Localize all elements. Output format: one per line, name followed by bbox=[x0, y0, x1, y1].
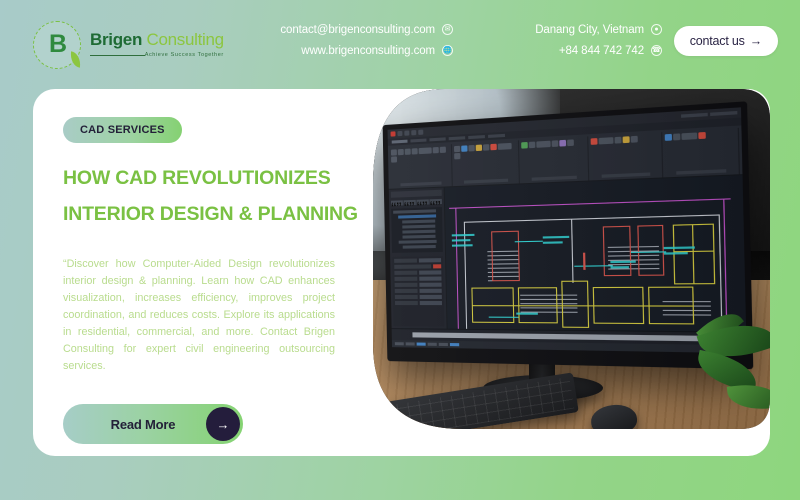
erase-tool-icon bbox=[491, 144, 497, 151]
property-value bbox=[418, 258, 441, 262]
phone-icon: ☎ bbox=[651, 45, 662, 56]
red-detail-block bbox=[637, 225, 664, 276]
ribbon-group-draw bbox=[390, 144, 453, 189]
header-website-text: www.brigenconsulting.com bbox=[301, 45, 435, 57]
cabinet-block bbox=[561, 281, 589, 328]
tree-item bbox=[402, 225, 435, 229]
purge-tool-icon bbox=[698, 132, 705, 139]
quick-save-icon bbox=[397, 131, 402, 136]
headline-line-1: HOW CAD REVOLUTIONIZES bbox=[63, 160, 363, 196]
ribbon-group-utilities-label bbox=[676, 169, 727, 175]
layer-dropdown-icon bbox=[599, 137, 614, 144]
layer-lock-icon bbox=[631, 136, 638, 143]
status-osnap-toggle[interactable] bbox=[439, 343, 448, 346]
panel-tool-1-icon bbox=[391, 200, 403, 205]
tree-item bbox=[403, 235, 436, 239]
header-email-text: contact@brigenconsulting.com bbox=[280, 24, 435, 36]
rectangle-tool-icon bbox=[419, 147, 432, 154]
annotation-text bbox=[543, 241, 563, 244]
header-address-row: Danang City, Vietnam ● bbox=[535, 19, 662, 40]
header-email-row[interactable]: contact@brigenconsulting.com ✉ bbox=[280, 19, 453, 40]
panel-tool-2-icon bbox=[404, 200, 416, 205]
red-detail-block bbox=[491, 231, 520, 282]
ribbon-group-modify-icons bbox=[454, 143, 517, 180]
ribbon-tab-view bbox=[449, 136, 465, 140]
property-name bbox=[394, 277, 416, 281]
leader-line bbox=[515, 241, 543, 243]
panel-header bbox=[391, 190, 442, 198]
header-location-group: Danang City, Vietnam ● +84 844 742 742 ☎ bbox=[535, 19, 662, 61]
logo-name: Brigen Consulting bbox=[90, 31, 224, 50]
property-row bbox=[395, 289, 442, 293]
cad-left-panel bbox=[389, 188, 448, 329]
array-tool-icon bbox=[498, 143, 512, 150]
dimension-tool-icon bbox=[529, 142, 536, 149]
desk-scene bbox=[333, 89, 770, 456]
quick-select-icon bbox=[673, 133, 680, 140]
arrow-right-icon: → bbox=[206, 407, 240, 441]
move-tool-icon bbox=[454, 146, 460, 152]
ribbon-tab-output bbox=[488, 134, 505, 138]
drawing-tree-list bbox=[391, 207, 443, 253]
ribbon-group-annotation-icons bbox=[521, 139, 587, 177]
hero-image bbox=[333, 89, 770, 456]
property-color-swatch bbox=[433, 264, 441, 268]
selection-cursor bbox=[583, 253, 586, 270]
property-row bbox=[395, 301, 442, 305]
property-value bbox=[419, 295, 442, 299]
logo-monogram: B bbox=[49, 32, 65, 57]
page-header: B Brigen Consulting Achieve Success Toge… bbox=[0, 0, 800, 89]
annotation-text bbox=[610, 266, 628, 268]
quick-redo-icon bbox=[411, 130, 416, 135]
partition-line bbox=[571, 219, 574, 283]
tree-item bbox=[403, 245, 436, 249]
ribbon-group-annotation bbox=[520, 136, 590, 183]
property-name bbox=[395, 289, 417, 293]
hero-content: CAD SERVICES HOW CAD REVOLUTIONIZES INTE… bbox=[63, 117, 363, 444]
property-row bbox=[394, 270, 441, 275]
property-name bbox=[394, 271, 416, 275]
annotation-text bbox=[610, 261, 635, 264]
line-tool-icon bbox=[391, 149, 397, 155]
tree-item bbox=[399, 240, 437, 244]
status-grid-toggle[interactable] bbox=[395, 342, 404, 345]
property-name bbox=[394, 259, 416, 263]
ribbon-tab-insert bbox=[410, 139, 426, 143]
quick-print-icon bbox=[418, 130, 423, 135]
text-tool-icon bbox=[521, 142, 528, 149]
ribbon-group-draw-label bbox=[400, 182, 442, 187]
circle-tool-icon bbox=[405, 149, 411, 155]
status-polar-toggle[interactable] bbox=[428, 343, 437, 346]
hero-image-clip bbox=[333, 89, 770, 456]
property-value bbox=[419, 289, 442, 293]
header-phone-row[interactable]: +84 844 742 742 ☎ bbox=[535, 40, 662, 61]
ribbon-tab-home bbox=[392, 140, 408, 144]
dimension-line-left bbox=[455, 208, 459, 332]
leader-line bbox=[489, 317, 519, 318]
measure-tool-icon bbox=[664, 134, 671, 141]
properties-palette-icon bbox=[681, 132, 697, 140]
titlebar-controls bbox=[710, 111, 737, 116]
property-row bbox=[394, 264, 441, 269]
annotation-text bbox=[452, 234, 475, 237]
property-row bbox=[394, 277, 441, 281]
attribute-tool-icon bbox=[567, 139, 574, 146]
ribbon-group-layers bbox=[590, 132, 663, 180]
ribbon-tab-annotate bbox=[429, 137, 445, 141]
property-row bbox=[395, 295, 442, 299]
header-phone-text: +84 844 742 742 bbox=[559, 45, 644, 57]
app-logo-icon bbox=[391, 131, 396, 136]
ribbon-group-layers-label bbox=[602, 172, 650, 177]
annotation-text bbox=[664, 252, 688, 255]
layer-freeze-icon bbox=[623, 136, 630, 143]
contact-us-label: contact us bbox=[690, 34, 745, 48]
leader-tool-icon bbox=[536, 141, 550, 148]
category-badge: CAD SERVICES bbox=[63, 117, 182, 143]
header-contact-group: contact@brigenconsulting.com ✉ www.brige… bbox=[280, 19, 453, 61]
quick-undo-icon bbox=[404, 130, 409, 135]
copy-tool-icon bbox=[462, 145, 468, 152]
ribbon-group-modify bbox=[453, 140, 519, 186]
command-prompt-icon bbox=[395, 332, 411, 337]
tree-item bbox=[402, 230, 435, 234]
house-plant bbox=[680, 300, 770, 430]
ribbon-group-draw-icons bbox=[391, 146, 451, 182]
contact-us-button[interactable]: contact us → bbox=[674, 26, 778, 56]
envelope-icon: ✉ bbox=[442, 24, 453, 35]
property-name bbox=[394, 264, 431, 269]
leaf-icon bbox=[69, 51, 82, 67]
read-more-button[interactable]: Read More → bbox=[63, 404, 243, 444]
status-model-space-toggle[interactable] bbox=[450, 343, 459, 346]
block-tool-icon bbox=[559, 140, 566, 147]
status-ortho-toggle[interactable] bbox=[417, 343, 426, 346]
header-website-row[interactable]: www.brigenconsulting.com 🌐 bbox=[280, 40, 453, 61]
logo-name-secondary: Consulting bbox=[146, 30, 223, 49]
logo-mark-icon: B bbox=[33, 21, 81, 69]
property-row bbox=[394, 258, 441, 263]
property-name bbox=[395, 295, 417, 299]
property-value bbox=[419, 301, 442, 305]
headline-line-2: INTERIOR DESIGN & PLANNING bbox=[63, 196, 363, 232]
property-row bbox=[395, 283, 442, 287]
wall-line bbox=[464, 222, 467, 331]
ellipse-tool-icon bbox=[391, 156, 397, 162]
properties-panel bbox=[392, 256, 444, 327]
property-value bbox=[419, 277, 442, 281]
ribbon-group-utilities-icons bbox=[664, 130, 737, 170]
status-snap-toggle[interactable] bbox=[406, 342, 415, 345]
trim-tool-icon bbox=[483, 144, 489, 151]
brand-logo[interactable]: B Brigen Consulting Achieve Success Toge… bbox=[33, 21, 224, 69]
panel-toolbar bbox=[391, 199, 442, 206]
fillet-tool-icon bbox=[455, 153, 461, 159]
table-tool-icon bbox=[551, 140, 558, 147]
ribbon-tab-manage bbox=[468, 135, 485, 139]
arrow-right-icon: → bbox=[750, 34, 762, 48]
property-name bbox=[395, 283, 417, 287]
panel-tool-4-icon bbox=[430, 199, 442, 205]
hero-card: CAD SERVICES HOW CAD REVOLUTIONIZES INTE… bbox=[33, 89, 770, 456]
arc-tool-icon bbox=[412, 148, 418, 154]
page-title: HOW CAD REVOLUTIONIZES INTERIOR DESIGN &… bbox=[63, 160, 363, 232]
spline-tool-icon bbox=[440, 147, 446, 153]
rotate-tool-icon bbox=[469, 145, 475, 152]
titlebar-filename bbox=[681, 113, 708, 118]
tree-item bbox=[402, 220, 435, 224]
plant-leaf bbox=[727, 381, 770, 412]
map-pin-icon: ● bbox=[651, 24, 662, 35]
annotation-text bbox=[452, 239, 471, 241]
polyline-tool-icon bbox=[398, 149, 404, 155]
dimension-line-top bbox=[449, 198, 730, 209]
panel-tool-3-icon bbox=[417, 199, 429, 205]
logo-wordmark: Brigen Consulting Achieve Success Togeth… bbox=[90, 31, 224, 58]
header-address-text: Danang City, Vietnam bbox=[535, 24, 644, 36]
ribbon-group-modify-label bbox=[464, 179, 508, 184]
property-name bbox=[395, 301, 417, 305]
layer-properties-icon bbox=[591, 138, 598, 145]
property-value bbox=[419, 270, 442, 274]
annotation-text bbox=[516, 313, 538, 315]
hatch-tool-icon bbox=[433, 147, 439, 153]
mirror-tool-icon bbox=[476, 145, 482, 152]
ribbon-group-utilities bbox=[663, 128, 740, 178]
ribbon-group-annotation-label bbox=[531, 176, 577, 181]
wall-line bbox=[464, 214, 719, 222]
tree-item-selected bbox=[398, 214, 436, 218]
globe-icon: 🌐 bbox=[442, 45, 453, 56]
property-value bbox=[419, 283, 442, 287]
body-paragraph: “Discover how Computer-Aided Design revo… bbox=[63, 256, 335, 375]
logo-name-primary: Brigen bbox=[90, 30, 142, 49]
layer-isolate-icon bbox=[615, 137, 622, 144]
logo-tagline: Achieve Success Together bbox=[90, 52, 224, 58]
red-detail-block bbox=[603, 226, 632, 276]
ribbon-group-layers-icons bbox=[591, 135, 660, 174]
tree-root-item bbox=[393, 209, 436, 213]
annotation-text bbox=[452, 244, 473, 246]
annotation-text bbox=[543, 236, 569, 239]
